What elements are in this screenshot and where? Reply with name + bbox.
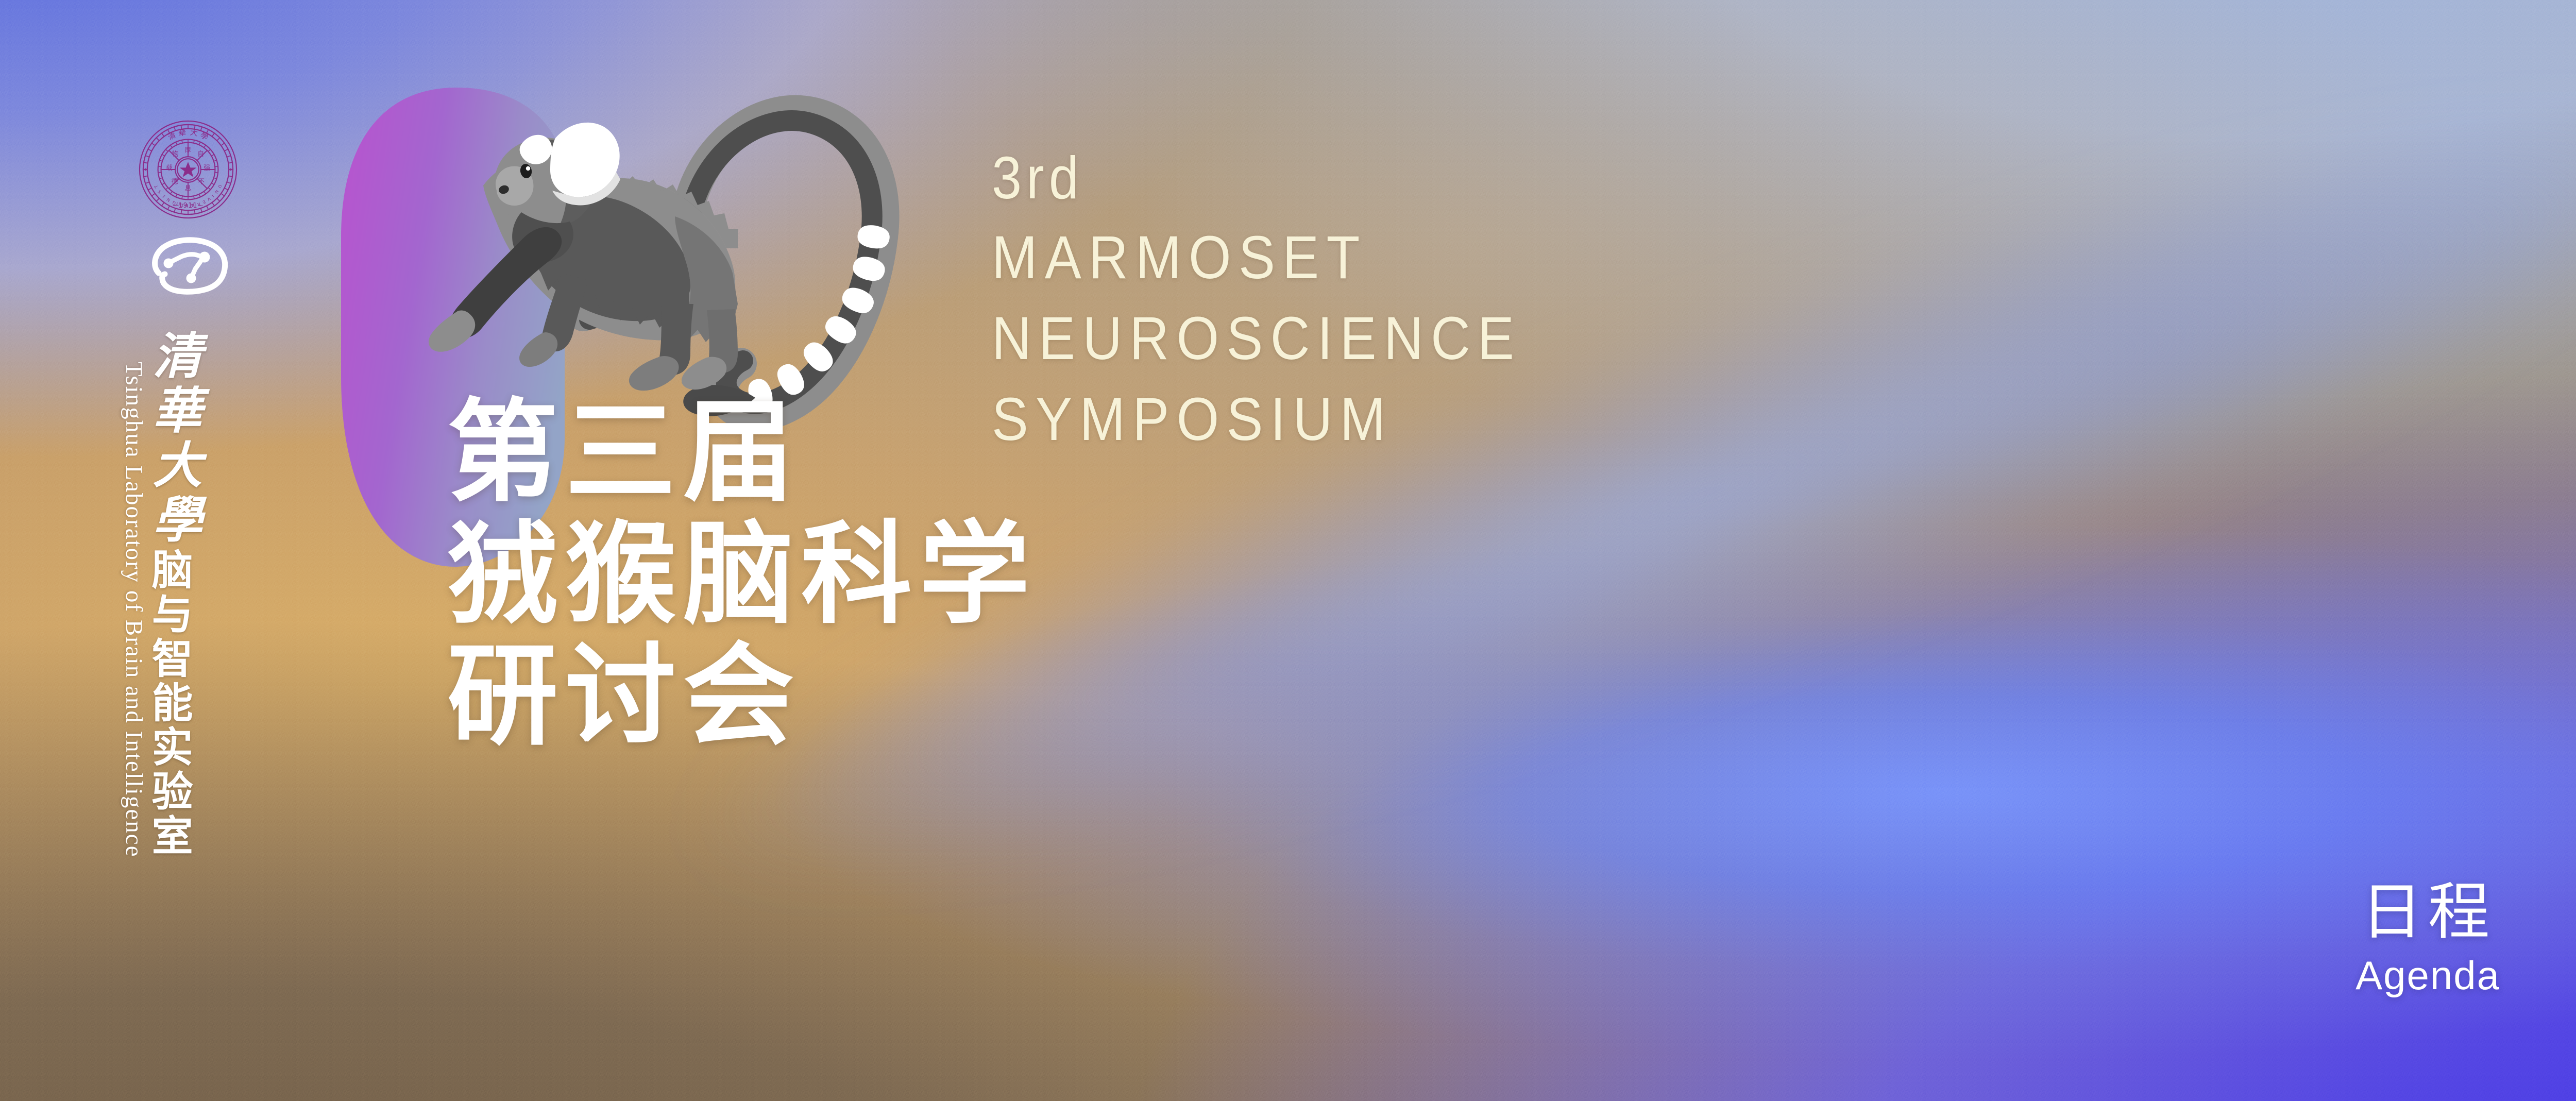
title-en-line-4: SYMPOSIUM [992,379,1521,460]
title-en-line-3: NEUROSCIENCE [992,298,1521,379]
svg-text:不: 不 [198,178,205,186]
symposium-title-en: 3rd MARMOSET NEUROSCIENCE SYMPOSIUM [992,138,1581,460]
svg-text:N: N [165,197,171,203]
svg-text:清: 清 [166,130,177,142]
symposium-banner: 厚 自 强 不 息 德 载 物 清 華 大 學 T S I N [0,0,2576,1101]
svg-text:U: U [217,184,223,189]
marmoset-hind-foot [629,356,679,391]
svg-text:息: 息 [185,184,192,193]
vertical-lab-name-cn: 脑与智能实验室 [148,548,190,858]
title-en-line-2: MARMOSET [992,217,1521,298]
svg-text:I: I [162,194,166,199]
title-cn-line-1: 第三届 [447,392,1037,514]
svg-text:~1911~: ~1911~ [172,202,204,210]
symposium-title-cn: 第三届 狨猴脑科学 研讨会 [447,392,1037,757]
agenda-label-en: Agenda [2355,954,2500,998]
svg-text:强: 强 [204,164,210,172]
agenda-label: 日程 Agenda [2355,877,2500,998]
svg-text:S: S [157,189,162,195]
tsinghua-seal-icon: 厚 自 强 不 息 德 载 物 清 華 大 學 T S I N [137,118,239,221]
svg-text:载: 载 [166,164,173,172]
title-cn-line-3: 研讨会 [447,635,1037,757]
svg-text:T: T [153,184,159,190]
svg-text:學: 學 [199,130,210,142]
vertical-university-name-cn: 清華大學 [148,330,197,548]
svg-text:厚: 厚 [185,146,192,154]
vertical-lab-name-en: Tsinghua Laboratory of Brain and Intelli… [122,362,146,857]
svg-text:自: 自 [197,150,204,158]
svg-text:物: 物 [172,150,179,158]
institution-identity: 厚 自 强 不 息 德 载 物 清 華 大 學 T S I N [129,118,247,301]
title-en-line-1: 3rd [992,138,1521,217]
svg-text:V: V [206,196,212,202]
agenda-label-cn: 日程 [2355,877,2500,946]
svg-text:I: I [210,194,215,198]
brain-outline-icon [144,234,232,301]
svg-text:德: 德 [172,178,178,186]
svg-text:N: N [213,189,219,195]
title-cn-line-2: 狨猴脑科学 [447,514,1037,636]
svg-text:大: 大 [190,128,199,138]
svg-text:華: 華 [178,127,187,138]
